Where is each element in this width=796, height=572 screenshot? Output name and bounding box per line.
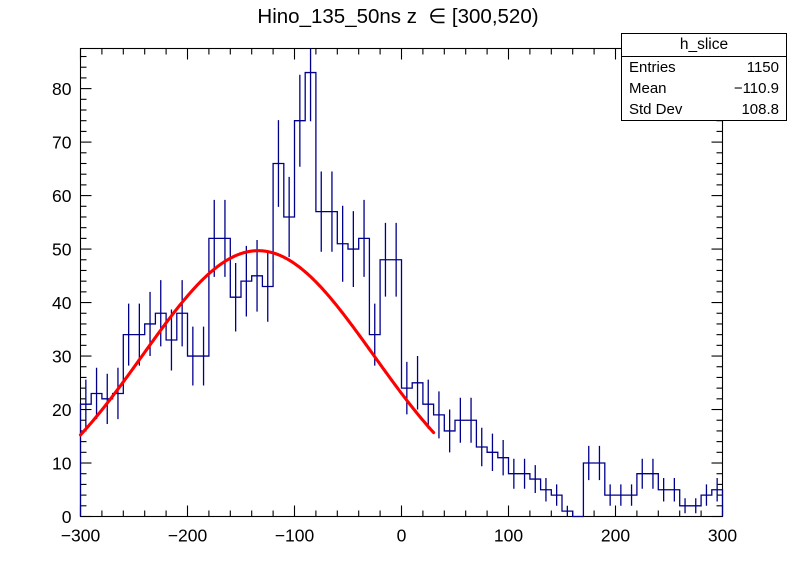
x-axis-tick-label: −200 [168,526,208,546]
stats-row-value: −110.9 [734,79,779,98]
y-axis-tick-label: 40 [52,293,72,313]
stats-row-value: 108.8 [741,100,779,119]
y-axis-tick-label: 30 [52,347,72,367]
stats-row-label: Entries [629,58,676,77]
histogram-outline [81,73,723,517]
y-axis-tick-label: 80 [52,79,72,99]
y-axis-tick-label: 60 [52,186,72,206]
stats-row-value: 1150 [747,58,779,77]
y-axis-tick-label: 50 [52,240,72,260]
stats-rows: Entries1150Mean−110.9Std Dev108.8 [622,57,786,120]
stats-row-label: Mean [629,79,667,98]
x-axis-tick-label: 0 [397,526,407,546]
stats-row: Entries1150 [622,57,786,78]
x-axis-tick-label: 200 [601,526,630,546]
x-axis-tick-label: 100 [494,526,523,546]
stats-box[interactable]: h_slice Entries1150Mean−110.9Std Dev108.… [621,33,787,121]
stats-row: Std Dev108.8 [622,99,786,120]
page-title: Hino_135_50ns z ∈ [300,520) [0,4,796,29]
stats-box-title: h_slice [622,34,786,57]
x-axis-tick-label: 300 [708,526,737,546]
stats-row: Mean−110.9 [622,78,786,99]
y-axis-tick-label: 20 [52,400,72,420]
stats-row-label: Std Dev [629,100,682,119]
root-canvas: Hino_135_50ns z ∈ [300,520) −300−200−100… [0,0,796,572]
x-axis-tick-label: −300 [61,526,101,546]
x-axis-tick-label: −100 [275,526,315,546]
y-axis-tick-label: 10 [52,454,72,474]
y-axis-tick-label: 70 [52,133,72,153]
y-axis-tick-label: 0 [62,507,72,527]
